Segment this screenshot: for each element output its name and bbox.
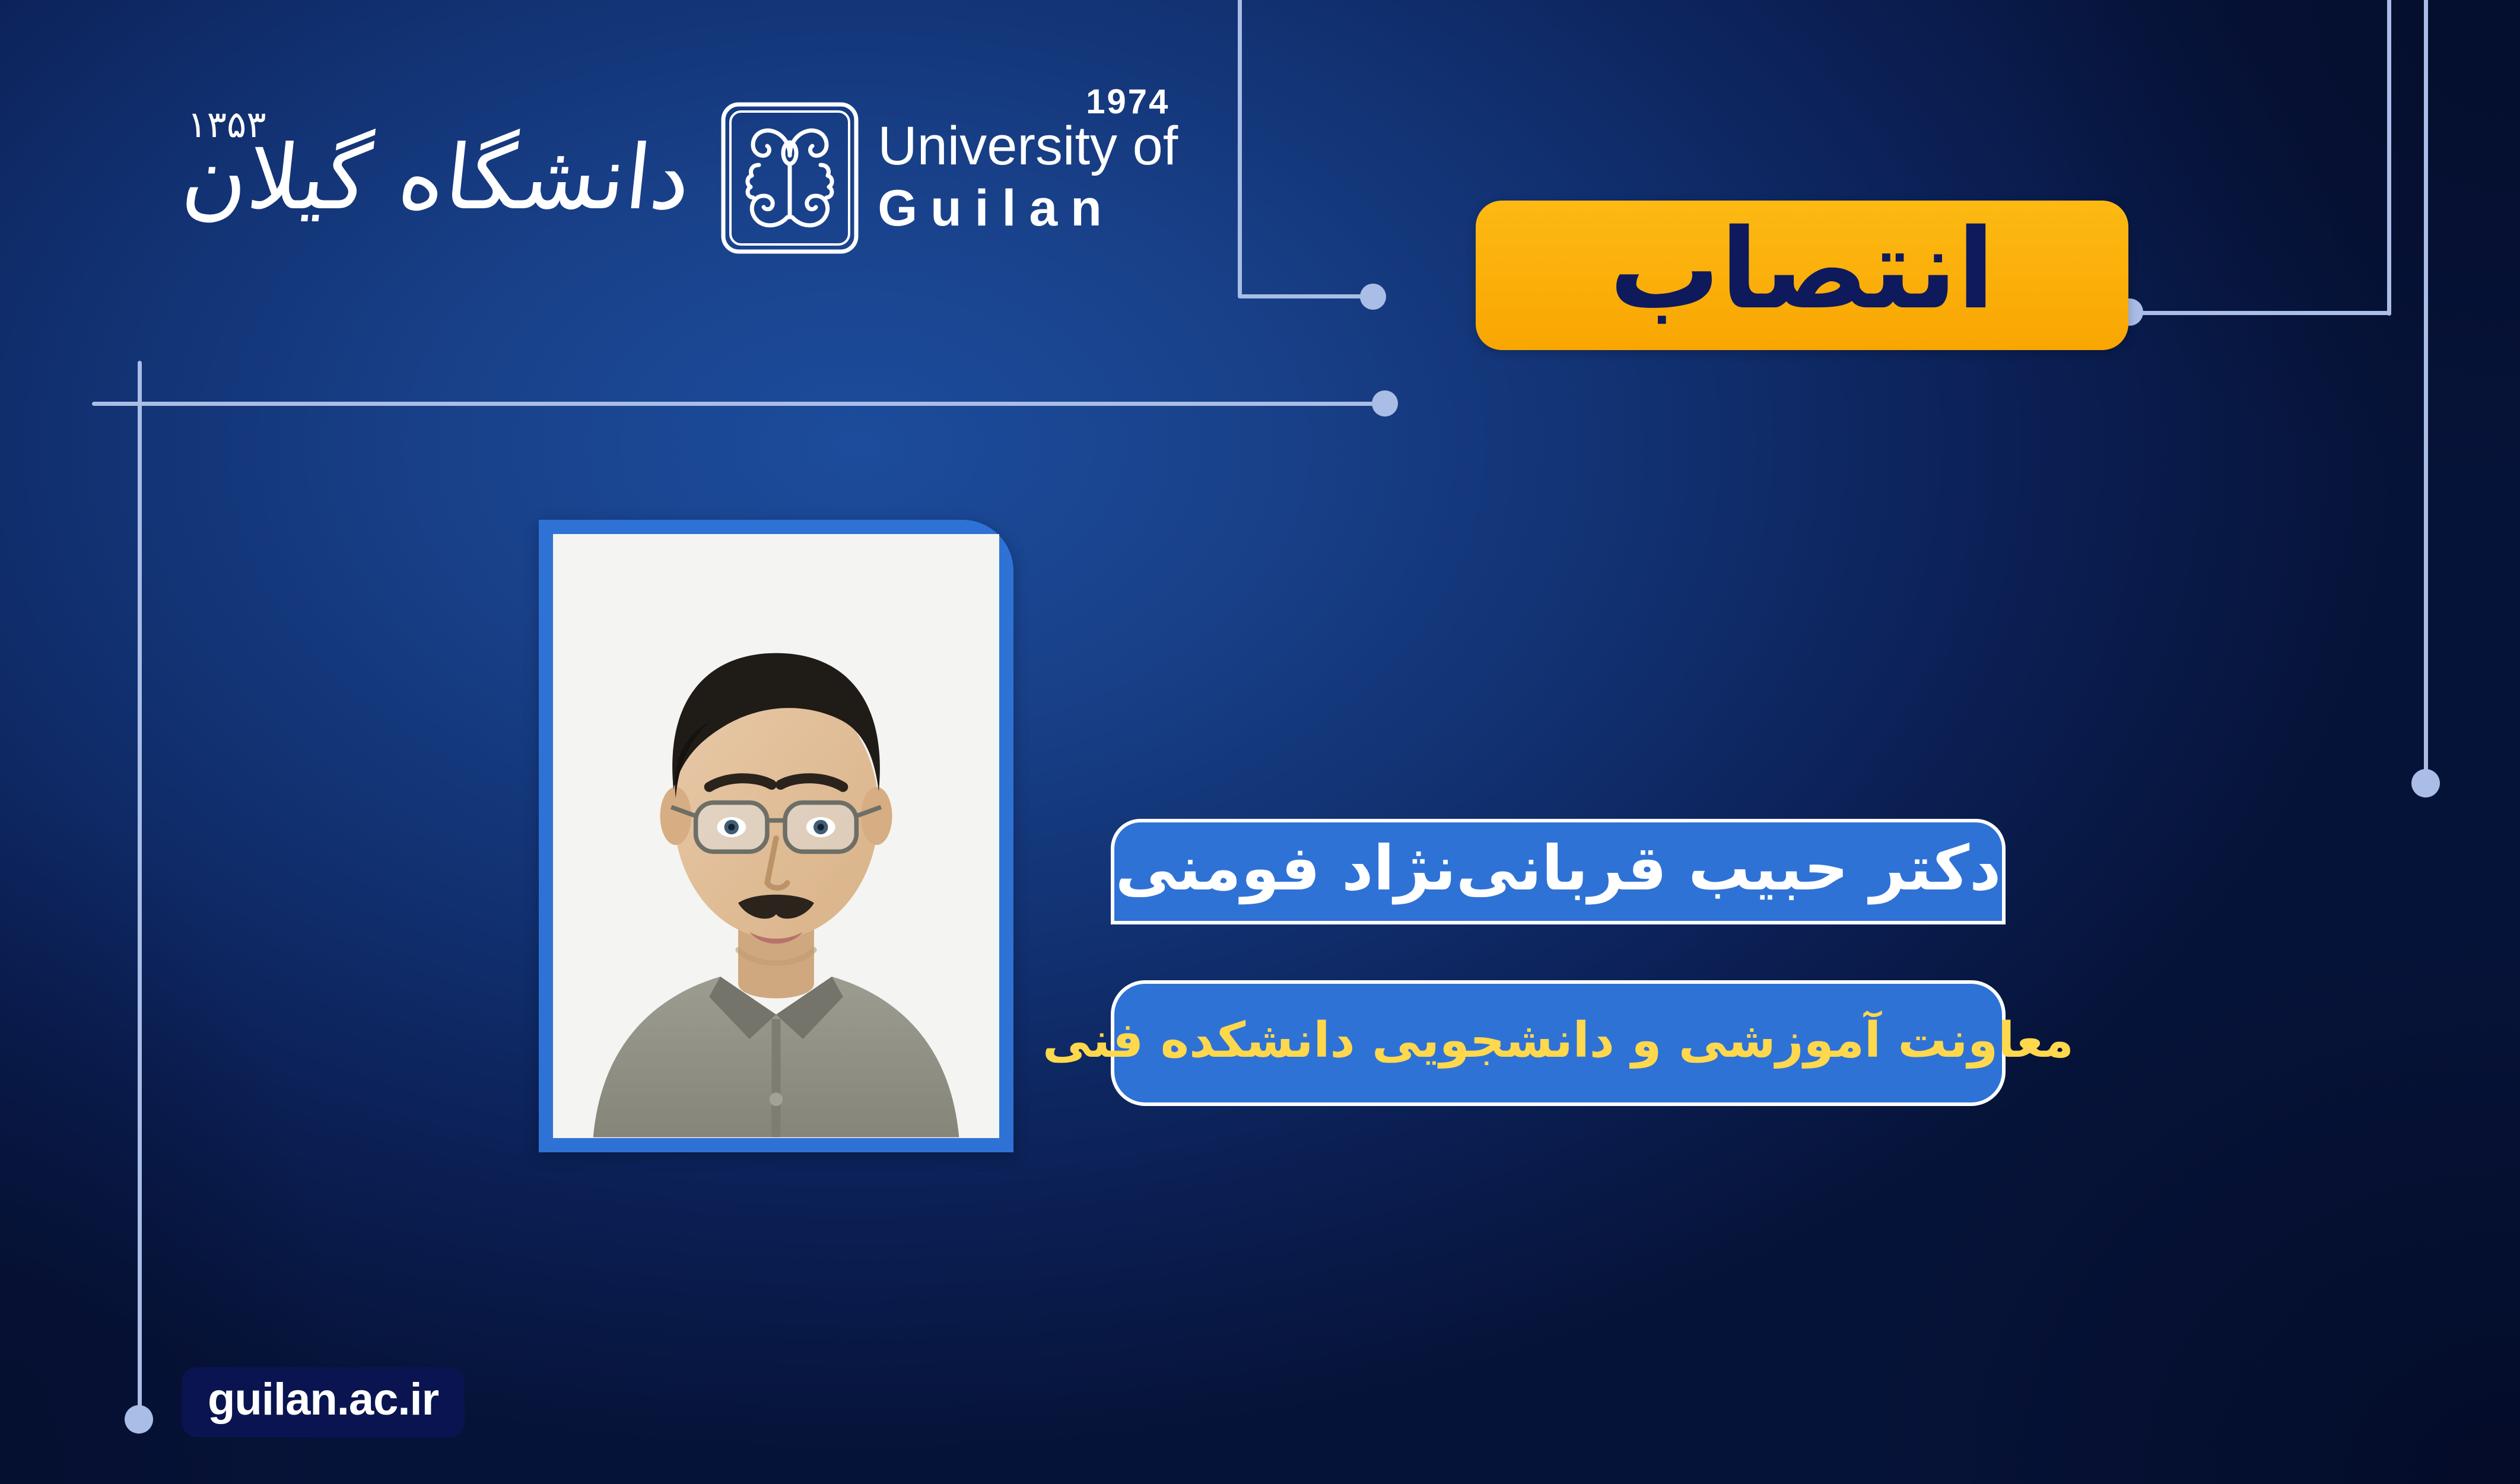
decorative-dot-left-end bbox=[1372, 390, 1398, 417]
decorative-line-horizontal-left bbox=[92, 402, 1385, 406]
person-name-banner: دکتر حبیب قربانی‌نژاد فومنی bbox=[1111, 819, 2006, 924]
guilan-butterfly-emblem-icon bbox=[719, 101, 861, 255]
decorative-line-horizontal-right bbox=[2140, 311, 2391, 315]
portrait-frame bbox=[539, 520, 1013, 1152]
appointment-badge: انتصاب bbox=[1476, 201, 2128, 350]
decorative-line-vertical-left bbox=[138, 361, 142, 1416]
logo-persian-name-wrap: دانشگاه گیلان ۱۳۵۳ bbox=[173, 134, 711, 223]
person-name: دکتر حبیب قربانی‌نژاد فومنی bbox=[1116, 837, 2001, 899]
decorative-line-vertical-middle bbox=[1238, 0, 1242, 297]
website-url-pill[interactable]: guilan.ac.ir bbox=[182, 1367, 465, 1437]
logo-founding-year: 1974 bbox=[1086, 82, 1170, 122]
portrait-photo bbox=[553, 534, 999, 1138]
decorative-line-horizontal-middle bbox=[1238, 294, 1372, 298]
decorative-line-vertical-right-short bbox=[2387, 0, 2391, 316]
position-title-banner: معاونت آموزشی و دانشجویی دانشکده فنی bbox=[1111, 980, 2006, 1106]
logo-english-name: 1974 University of Guilan bbox=[873, 119, 1178, 238]
decorative-dot-middle bbox=[1360, 284, 1386, 310]
website-url: guilan.ac.ir bbox=[208, 1377, 438, 1422]
decorative-dot-right-bottom bbox=[2411, 769, 2440, 797]
decorative-dot-left-bottom bbox=[125, 1405, 153, 1434]
position-title: معاونت آموزشی و دانشجویی دانشکده فنی bbox=[1043, 1016, 2074, 1065]
appointment-poster: دانشگاه گیلان ۱۳۵۳ bbox=[0, 0, 2520, 1484]
logo-guilan-text: Guilan bbox=[878, 179, 1178, 238]
decorative-line-vertical-right-long bbox=[2424, 0, 2428, 777]
logo-persian-year: ۱۳۵۳ bbox=[187, 106, 266, 143]
appointment-badge-label: انتصاب bbox=[1609, 214, 1995, 325]
university-logo: دانشگاه گیلان ۱۳۵۳ bbox=[178, 101, 1184, 255]
logo-university-of-text: University of bbox=[878, 119, 1178, 173]
